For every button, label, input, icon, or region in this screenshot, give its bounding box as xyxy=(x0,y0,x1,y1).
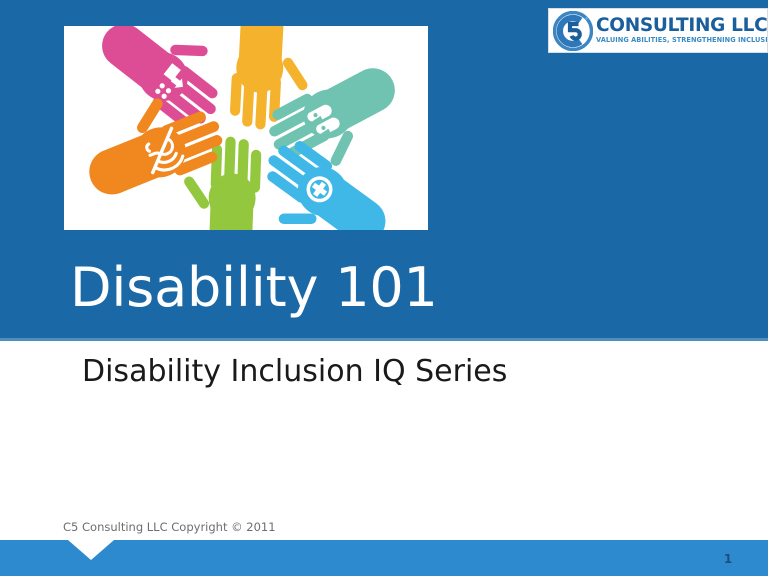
footer-triangle-notch-icon xyxy=(68,540,114,560)
logo-tagline: VALUING ABILITIES, STRENGTHENING INCLUSI… xyxy=(596,37,767,44)
presentation-slide: CONSULTING LLC VALUING ABILITIES, STRENG… xyxy=(0,0,768,576)
six-colored-hands-image xyxy=(64,26,428,230)
title-band-edge xyxy=(0,338,768,341)
page-title: Disability 101 xyxy=(70,258,710,318)
page-subtitle: Disability Inclusion IQ Series xyxy=(82,354,722,390)
logo-company-name: CONSULTING LLC xyxy=(596,17,767,36)
company-logo: CONSULTING LLC VALUING ABILITIES, STRENG… xyxy=(548,8,768,53)
copyright-text: C5 Consulting LLC Copyright © 2011 xyxy=(63,520,276,534)
logo-wordmark: CONSULTING LLC VALUING ABILITIES, STRENG… xyxy=(596,17,767,44)
c5-circle-logo-icon xyxy=(553,11,593,51)
footer-bar xyxy=(0,540,768,576)
slide-number: 1 xyxy=(716,552,740,566)
